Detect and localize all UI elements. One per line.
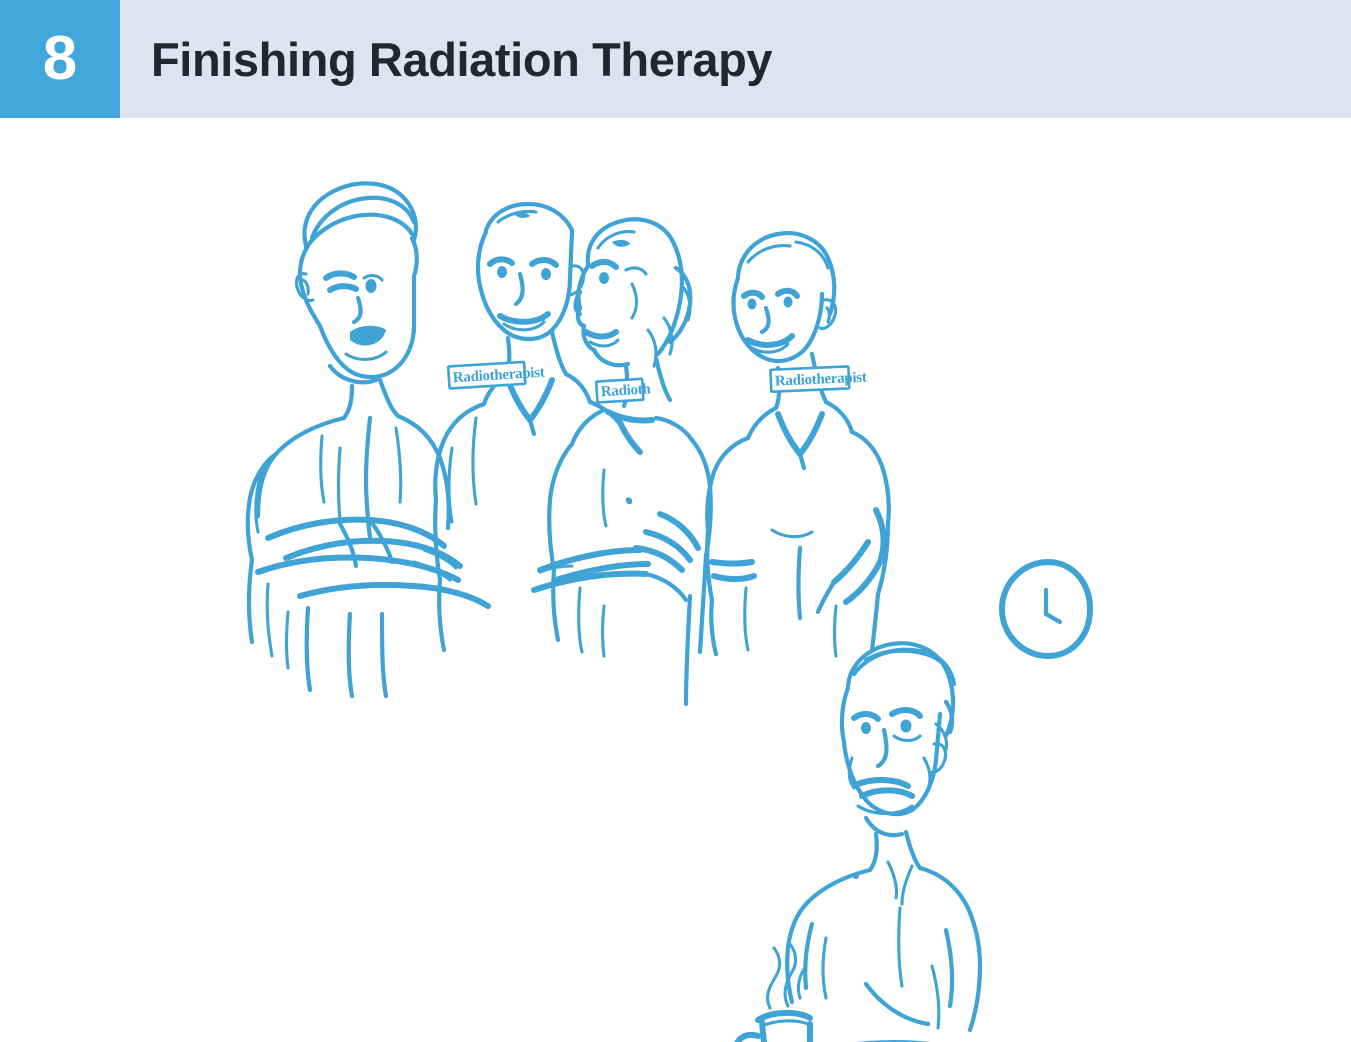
figure-group-seated [706,562,1090,1042]
section-number-label: 8 [43,28,77,90]
page-title: Finishing Radiation Therapy [120,0,1351,118]
line-art-illustration: Radiotherapist [0,118,1351,1042]
badge-label-3: Radiotherapist [775,370,868,390]
wall-clock [1002,562,1090,656]
badge-radiotherapist-3: Radiotherapist [770,366,867,392]
figure-radiotherapist-1: Radiotherapist [435,204,626,650]
badge-radiotherapist-1: Radiotherapist [448,361,545,389]
badge-label-2: Radioth [600,381,651,400]
figure-radiotherapist-3: Radiotherapist [707,233,889,656]
badge-radiotherapist-2: Radioth [596,378,652,402]
figure-radiotherapist-2: Radioth [534,219,711,704]
figure-group-standing: Radiotherapist [248,183,889,704]
illustration-canvas: Radiotherapist [0,118,1351,1042]
figure-patient-standing [248,183,488,696]
figure-patient-seated [706,643,982,1042]
section-number-badge: 8 [0,0,120,118]
slide-page: 8 Finishing Radiation Therapy [0,0,1351,1042]
tea-mug [736,944,810,1042]
page-header: 8 Finishing Radiation Therapy [0,0,1351,118]
